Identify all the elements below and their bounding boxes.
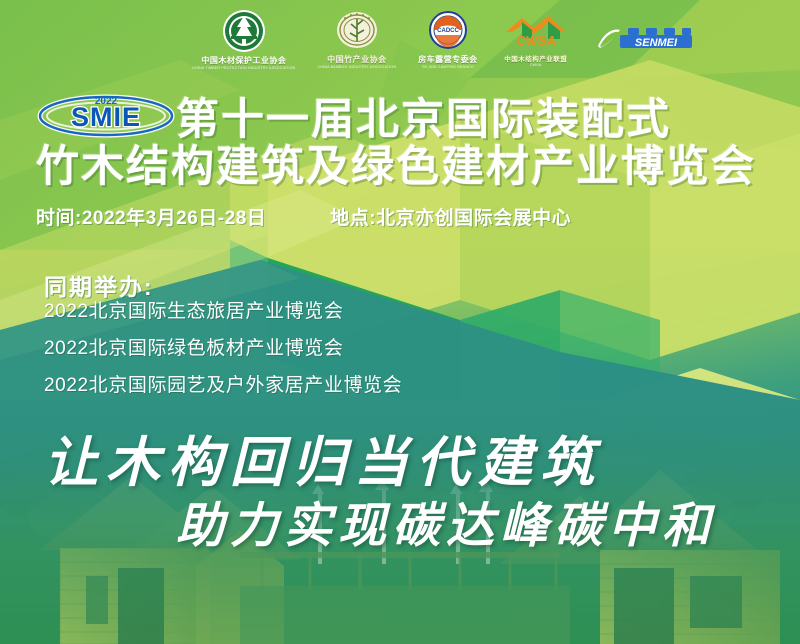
logo-sublabel: CHINA BAMBOO INDUSTRY ASSOCIATION [317, 65, 396, 69]
china-timber-protection-association-logo: 中国木材保护工业协会 CHINA TIMBER PROTECTION INDUS… [192, 8, 295, 70]
smie-wordmark: SMIE [71, 102, 141, 132]
cadcc-rv-camping-committee-logo: CADCC 房车露营专委会 RV AND CAMPING BRANCH [418, 9, 478, 69]
poster-title-line-1: 第十一届北京国际装配式 [176, 96, 786, 144]
concurrent-event-item: 2022北京国际生态旅居产业博览会 [44, 302, 474, 321]
slogan-line-2: 助力实现碳达峰碳中和 [176, 486, 716, 556]
cwsa-china-wood-structure-alliance-logo: CWSA 中国木结构产业联盟 CWSA [500, 12, 572, 67]
logo-label: 中国竹产业协会 [327, 54, 387, 65]
svg-text:SENMEI: SENMEI [635, 37, 678, 49]
logo-sublabel: CWSA [530, 63, 542, 67]
concurrent-event-item: 2022北京国际园艺及户外家居产业博览会 [44, 376, 474, 395]
svg-text:CADCC: CADCC [437, 28, 459, 34]
event-date: 时间:2022年3月26日-28日 [36, 203, 266, 230]
concurrent-event-item: 2022北京国际绿色板材产业博览会 [44, 339, 474, 358]
poster-title-line-2: 竹木结构建筑及绿色建材产业博览会 [36, 142, 786, 192]
logo-sublabel: CHINA TIMBER PROTECTION INDUSTRY ASSOCIA… [192, 66, 295, 70]
pine-tree-emblem-icon [221, 8, 267, 54]
senmei-leaf-wordmark-icon: SENMEI [594, 22, 698, 56]
bamboo-seal-icon [335, 9, 379, 53]
house-roof-icon: CWSA [500, 12, 572, 52]
smie-logo: 2022 SMIE [36, 92, 176, 138]
logo-label: 房车露营专委会 [418, 54, 478, 65]
svg-text:CWSA: CWSA [516, 33, 556, 48]
senmei-logo: SENMEI [594, 22, 698, 56]
logo-label: 中国木材保护工业协会 [201, 55, 286, 66]
exhibition-poster: 中国木材保护工业协会 CHINA TIMBER PROTECTION INDUS… [0, 0, 800, 644]
logo-sublabel: RV AND CAMPING BRANCH [422, 65, 473, 69]
logo-label: 中国木结构产业联盟 [504, 53, 567, 63]
event-venue: 地点:北京亦创国际会展中心 [330, 203, 571, 230]
concurrent-events-list: 2022北京国际生态旅居产业博览会 2022北京国际绿色板材产业博览会 2022… [44, 302, 474, 413]
sponsor-logo-strip: 中国木材保护工业协会 CHINA TIMBER PROTECTION INDUS… [0, 0, 800, 78]
concurrent-events-heading: 同期举办: [44, 268, 154, 302]
china-bamboo-industry-association-logo: 中国竹产业协会 CHINA BAMBOO INDUSTRY ASSOCIATIO… [317, 9, 396, 69]
cadcc-badge-icon: CADCC [426, 9, 470, 53]
event-meta: 时间:2022年3月26日-28日 地点:北京亦创国际会展中心 [36, 203, 766, 230]
